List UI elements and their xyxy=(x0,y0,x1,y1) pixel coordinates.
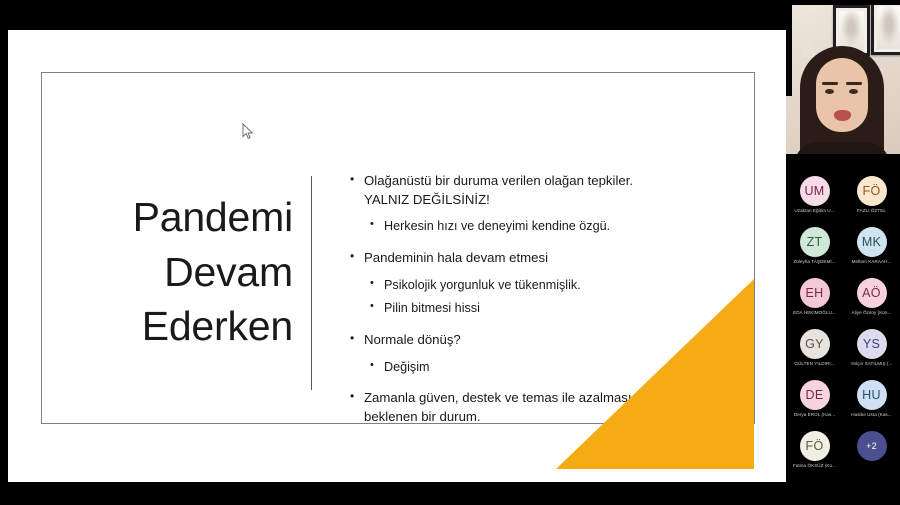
bullet-item: Pandeminin hala devam etmesi xyxy=(348,249,678,268)
decorative-triangle-shape xyxy=(556,279,754,469)
participant-name: Uzaktan Eğitim U... xyxy=(794,208,834,213)
video-letterbox-top xyxy=(786,0,900,5)
participant-tile[interactable]: GY GÜLTEN YILDIRI... xyxy=(786,327,843,373)
participant-tile[interactable]: DE Derya EROL (Kas... xyxy=(786,378,843,424)
participant-name: Yalçın SATILMIŞ (... xyxy=(851,361,893,366)
participant-tile[interactable]: EH EDA HEKİMOĞLU... xyxy=(786,276,843,322)
participant-name: GÜLTEN YILDIRI... xyxy=(794,361,834,366)
video-letterbox-left xyxy=(786,0,792,96)
participant-tile[interactable]: FÖ Fatma ÖKSÜZ (Ko... xyxy=(786,429,843,475)
participant-name: Fatma ÖKSÜZ (Ko... xyxy=(793,463,836,468)
slide-title-line-3: Ederken xyxy=(63,299,293,354)
avatar: FÖ xyxy=(800,431,830,461)
mouse-cursor-icon xyxy=(242,123,254,140)
slide-title-line-2: Devam xyxy=(63,245,293,300)
participant-tile[interactable]: MK Meltem KARAAH... xyxy=(843,225,900,271)
participant-name: Aliye Özsoy (Kon... xyxy=(851,310,891,315)
participant-name: FAZLI ÖZTEL xyxy=(857,208,886,213)
avatar: EH xyxy=(800,278,830,308)
avatar: MK xyxy=(857,227,887,257)
avatar: FÖ xyxy=(857,176,887,206)
bullet-item: Olağanüstü bir duruma verilen olağan tep… xyxy=(348,172,678,209)
avatar: DE xyxy=(800,380,830,410)
shared-screen-stage: Pandemi Devam Ederken Olağanüstü bir dur… xyxy=(0,0,786,505)
presenter-face xyxy=(816,58,868,132)
presenter-eye-right xyxy=(849,89,858,94)
participant-name: Züleyha TAŞDEMİ... xyxy=(793,259,835,264)
video-letterbox-bottom xyxy=(786,154,900,172)
participant-tile[interactable]: ZT Züleyha TAŞDEMİ... xyxy=(786,225,843,271)
slide-title-line-1: Pandemi xyxy=(63,190,293,245)
participant-tile[interactable]: FÖ FAZLI ÖZTEL xyxy=(843,174,900,220)
presenter-figure xyxy=(794,26,890,172)
presenter-eye-left xyxy=(825,89,834,94)
avatar: ZT xyxy=(800,227,830,257)
avatar: GY xyxy=(800,329,830,359)
participant-name: Meltem KARAAH... xyxy=(852,259,892,264)
overflow-count-badge: +2 xyxy=(857,431,887,461)
self-video-tile[interactable] xyxy=(786,0,900,172)
participant-tile[interactable]: YS Yalçın SATILMIŞ (... xyxy=(843,327,900,373)
title-body-divider xyxy=(311,176,312,390)
participant-tile[interactable]: UM Uzaktan Eğitim U... xyxy=(786,174,843,220)
participant-tile[interactable]: AÖ Aliye Özsoy (Kon... xyxy=(843,276,900,322)
presenter-mouth xyxy=(834,110,851,121)
bullet-item: Herkesin hızı ve deneyimi kendine özgü. xyxy=(348,218,678,236)
participant-grid: UM Uzaktan Eğitim U... FÖ FAZLI ÖZTEL ZT… xyxy=(786,174,900,475)
participant-name: Derya EROL (Kas... xyxy=(794,412,835,417)
avatar: UM xyxy=(800,176,830,206)
participant-name: EDA HEKİMOĞLU... xyxy=(793,310,836,315)
slide-title: Pandemi Devam Ederken xyxy=(63,190,293,354)
participant-overflow-tile[interactable]: +2 xyxy=(843,429,900,475)
presenter-brow-right xyxy=(846,82,862,85)
participant-name: Hasibe Usta (Kas... xyxy=(851,412,892,417)
avatar: HU xyxy=(857,380,887,410)
presenter-brow-left xyxy=(822,82,838,85)
presentation-slide: Pandemi Devam Ederken Olağanüstü bir dur… xyxy=(8,30,786,482)
avatar: AÖ xyxy=(857,278,887,308)
avatar: YS xyxy=(857,329,887,359)
participant-rail: UM Uzaktan Eğitim U... FÖ FAZLI ÖZTEL ZT… xyxy=(786,0,900,505)
screen-share-meeting-window: Pandemi Devam Ederken Olağanüstü bir dur… xyxy=(0,0,900,505)
participant-tile[interactable]: HU Hasibe Usta (Kas... xyxy=(843,378,900,424)
